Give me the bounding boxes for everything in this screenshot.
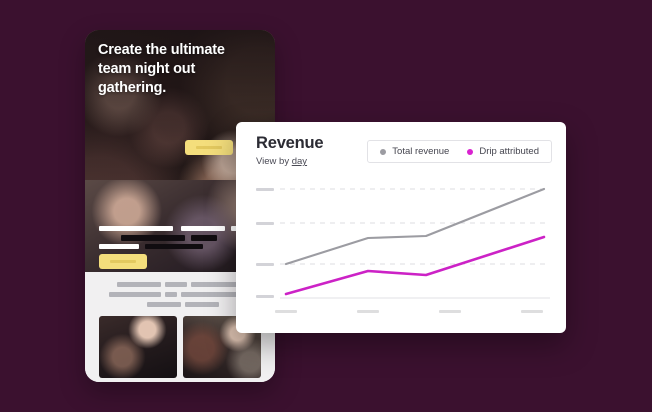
hero-cta-label-placeholder bbox=[196, 146, 223, 150]
x-tick-label-1 bbox=[275, 310, 297, 313]
hero-overlay-bar-1b bbox=[181, 226, 225, 231]
series-line-drip-attributed bbox=[286, 237, 544, 294]
x-tick-label-3 bbox=[439, 310, 461, 313]
mid-cta-label-placeholder bbox=[110, 260, 137, 264]
x-tick-label-4 bbox=[521, 310, 543, 313]
hero-overlay-bar-2b bbox=[191, 235, 217, 241]
body-text-line-1c bbox=[191, 282, 237, 287]
body-text-line-2 bbox=[109, 292, 161, 297]
hero-overlay-bar-3b bbox=[145, 244, 203, 249]
y-tick-label-3 bbox=[256, 222, 274, 225]
body-text-line-2b bbox=[165, 292, 177, 297]
y-tick-label-1 bbox=[256, 295, 274, 298]
screenshot-stage: Create the ultimate team night out gathe… bbox=[0, 0, 652, 412]
body-text-line-1 bbox=[117, 282, 161, 287]
hero-cta-button[interactable] bbox=[185, 140, 233, 155]
thumbnail-left bbox=[99, 316, 177, 378]
body-text-line-2c bbox=[181, 292, 237, 297]
series-line-total-revenue bbox=[286, 189, 544, 264]
chart-plot-area bbox=[236, 122, 566, 333]
body-text-line-3b bbox=[185, 302, 219, 307]
revenue-line-chart bbox=[236, 122, 566, 333]
body-text-line-3 bbox=[147, 302, 181, 307]
hero-overlay-bar-3 bbox=[99, 244, 139, 249]
y-tick-label-2 bbox=[256, 263, 274, 266]
x-tick-label-2 bbox=[357, 310, 379, 313]
hero-headline: Create the ultimate team night out gathe… bbox=[98, 41, 260, 98]
body-text-line-1b bbox=[165, 282, 187, 287]
hero-overlay-bar-1 bbox=[99, 226, 173, 231]
revenue-chart-card: Revenue View by day Total revenue Drip a… bbox=[236, 122, 566, 333]
hero-overlay-bar-2 bbox=[121, 235, 185, 241]
mid-cta-button[interactable] bbox=[99, 254, 147, 269]
y-tick-label-4 bbox=[256, 188, 274, 191]
